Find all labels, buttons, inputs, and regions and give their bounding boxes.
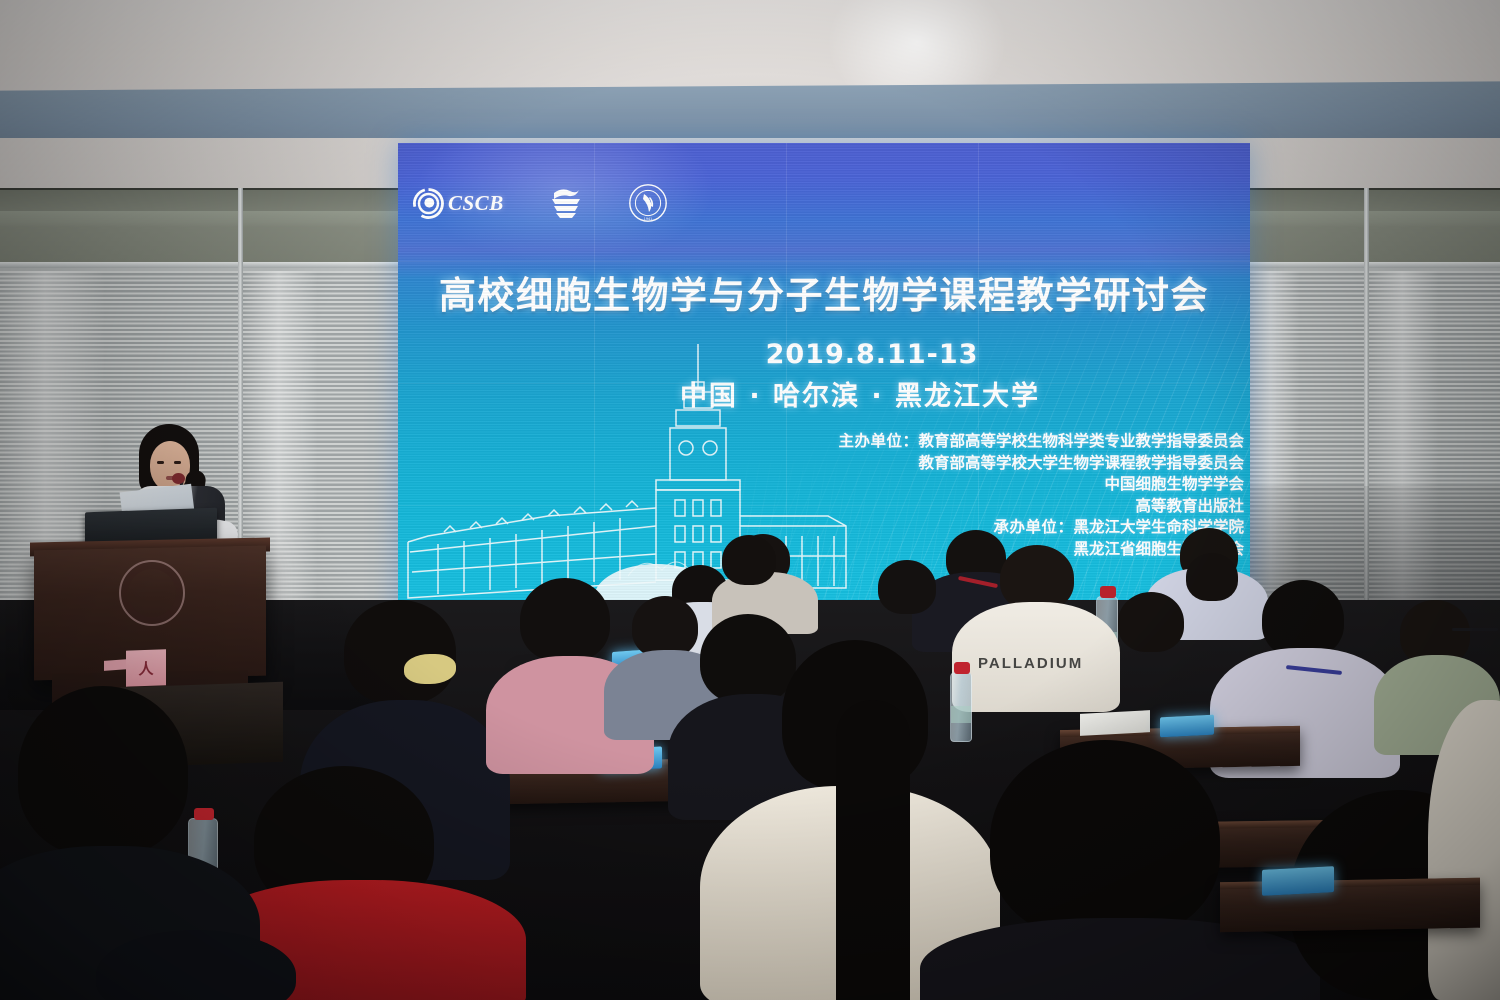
tablet-screen xyxy=(1160,715,1214,738)
heilongjiang-university-seal-logo: 1941 xyxy=(628,183,668,223)
hair-clip-butterfly xyxy=(404,654,456,684)
audience-head xyxy=(520,578,610,662)
screen-logo-row: CSCB 1941 xyxy=(412,183,668,223)
host-line-1: 教育部高等学校生物科学类专业教学指导委员会 xyxy=(918,432,1244,450)
conference-photo-scene: CSCB 1941 高校细胞生物学与分子生物学课程教学 xyxy=(0,0,1500,1000)
tablet-screen xyxy=(1262,866,1334,896)
audience-head xyxy=(700,614,796,704)
host-line-3: 中国细胞生物学学会 xyxy=(838,474,1244,496)
audience-head xyxy=(1186,553,1238,601)
cscb-logo-text: CSCB xyxy=(448,191,504,216)
transom-glass-right xyxy=(1240,188,1500,270)
organizer-label: 承办单位： xyxy=(993,518,1073,536)
audience-head-foreground xyxy=(990,740,1220,940)
conference-date: 2019.8.11-13 xyxy=(398,339,1250,370)
audience-head xyxy=(1262,580,1344,658)
audience-head xyxy=(1118,592,1184,652)
transom-glass-left xyxy=(0,188,410,270)
audience-desk xyxy=(1220,878,1480,933)
host-line-2: 教育部高等学校大学生物学课程教学指导委员会 xyxy=(838,453,1244,475)
name-card: 人 xyxy=(126,649,166,686)
audience-head-foreground xyxy=(18,686,188,856)
audience-head xyxy=(632,596,698,658)
microphone-head xyxy=(172,473,185,484)
svg-text:1941: 1941 xyxy=(643,217,652,221)
name-card-secondary xyxy=(104,659,128,671)
host-line-4: 高等教育出版社 xyxy=(838,496,1244,518)
paper-sheet xyxy=(1080,710,1150,736)
long-ponytail xyxy=(836,700,910,1000)
podium-university-emblem xyxy=(119,560,185,626)
conference-title: 高校细胞生物学与分子生物学课程教学研讨会 xyxy=(398,265,1250,319)
conference-location: 中国 · 哈尔滨 · 黑龙江大学 xyxy=(398,374,1250,413)
water-bottle xyxy=(950,672,972,742)
eyeglasses xyxy=(1452,628,1498,631)
led-presentation-screen: CSCB 1941 高校细胞生物学与分子生物学课程教学 xyxy=(398,143,1250,630)
cscb-logo: CSCB xyxy=(412,187,504,220)
hoodie-brand-text: PALLADIUM xyxy=(978,655,1096,675)
audience-head xyxy=(878,560,936,614)
cscb-cell-icon xyxy=(412,187,445,220)
higher-education-press-logo xyxy=(546,185,586,221)
audience-head xyxy=(722,535,776,585)
audience-head xyxy=(344,600,456,704)
host-label: 主办单位： xyxy=(838,432,918,450)
